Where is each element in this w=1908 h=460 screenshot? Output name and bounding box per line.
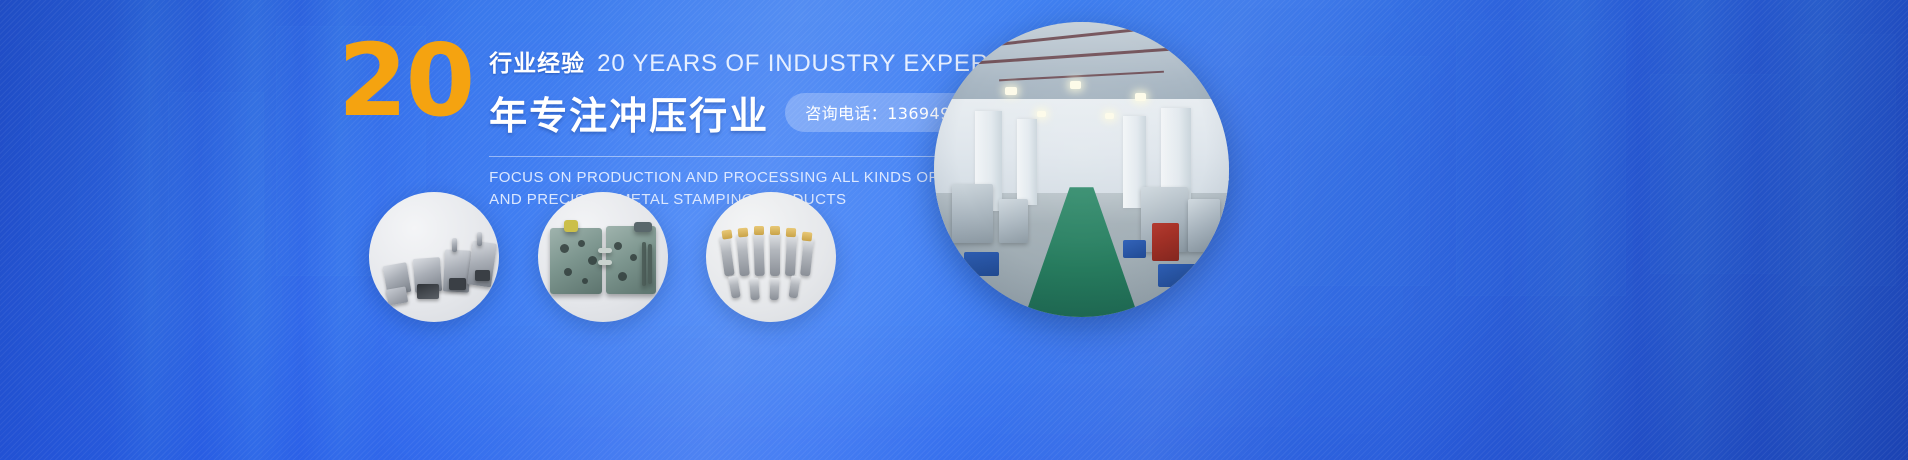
ghost-shape	[1800, 34, 1896, 286]
factory-photo-circle[interactable]	[934, 22, 1229, 317]
pin-terminals-image	[706, 192, 836, 322]
ghost-shape	[1650, 74, 1780, 274]
industry-experience-cn: 行业经验	[489, 44, 585, 78]
product-circle-stamping-mold[interactable]	[538, 192, 668, 322]
product-circle-connectors[interactable]	[369, 192, 499, 322]
headline-row: 20 行业经验 20 YEARS OF INDUSTRY EXPERIENCE …	[338, 36, 1038, 210]
ghost-shape	[1290, 56, 1430, 286]
years-number: 20	[338, 40, 473, 122]
connector-parts-image	[369, 192, 499, 322]
ghost-shape	[168, 92, 264, 260]
product-circle-pin-terminals[interactable]	[706, 192, 836, 322]
ghost-shape	[1456, 20, 1626, 296]
banner-copy: 20 行业经验 20 YEARS OF INDUSTRY EXPERIENCE …	[338, 36, 1038, 210]
stamping-mold-image	[538, 192, 668, 322]
ghost-shape	[30, 40, 150, 250]
promo-banner: 20 行业经验 20 YEARS OF INDUSTRY EXPERIENCE …	[0, 0, 1908, 460]
focus-stamping-industry-cn: 年专注冲压行业	[489, 85, 769, 140]
photo-vignette	[934, 22, 1229, 317]
